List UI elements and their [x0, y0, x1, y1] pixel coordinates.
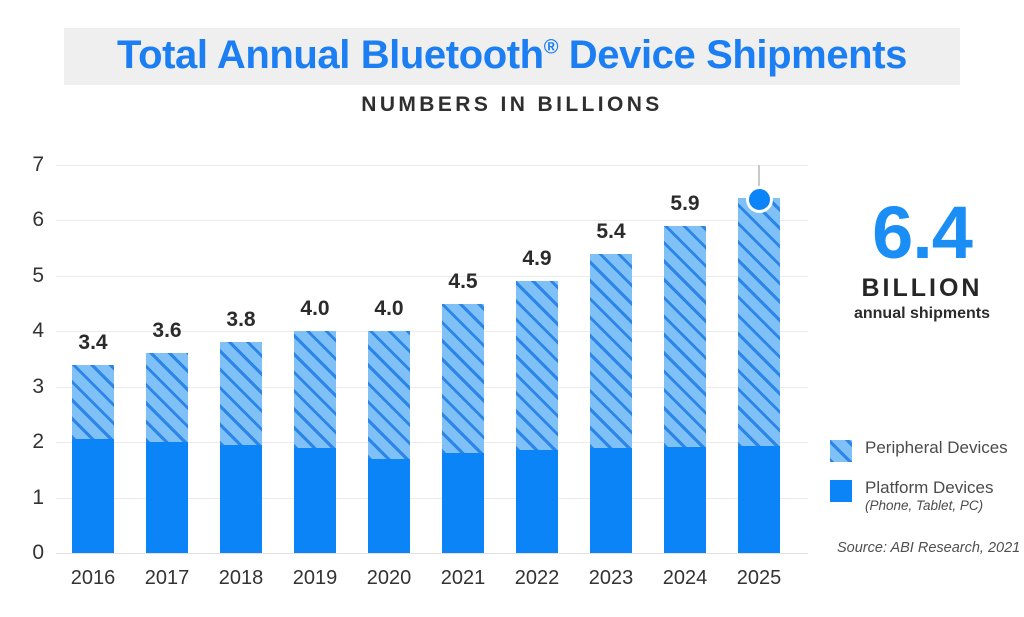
gridline-7 — [56, 165, 808, 166]
bar-value-label-2023: 5.4 — [568, 220, 654, 244]
bar-value-label-2024: 5.9 — [642, 192, 728, 216]
legend-item-peripheral-devices[interactable]: Peripheral Devices — [830, 438, 1024, 462]
source-note: Source: ABI Research, 2021 — [837, 540, 1020, 556]
bar-segment-peripheral-2022[interactable] — [516, 281, 558, 450]
page-title-main: Total Annual Bluetooth — [117, 33, 544, 77]
bar-value-label-2020: 4.0 — [346, 297, 432, 321]
bar-2023[interactable] — [590, 254, 632, 553]
page-title: Total Annual Bluetooth® Device Shipments — [0, 24, 1024, 86]
callout-block: 6.4 BILLION annual shipments — [828, 196, 1016, 323]
page-title-tail: Device Shipments — [558, 33, 907, 77]
y-axis-tick-2: 2 — [18, 430, 44, 454]
registered-trademark-icon: ® — [544, 37, 558, 59]
callout-subtext: annual shipments — [828, 305, 1016, 323]
legend-swatch-solid-icon — [830, 480, 852, 502]
bar-segment-platform-2024[interactable] — [664, 447, 706, 553]
bar-value-label-2021: 4.5 — [420, 270, 506, 294]
bar-segment-peripheral-2025[interactable] — [738, 198, 780, 446]
legend-label-peripheral: Peripheral Devices — [865, 438, 1008, 458]
legend-sublabel-platform: (Phone, Tablet, PC) — [865, 498, 993, 514]
bar-segment-platform-2025[interactable] — [738, 446, 780, 553]
bar-2021[interactable] — [442, 304, 484, 553]
bar-segment-platform-2020[interactable] — [368, 459, 410, 553]
y-axis-tick-1: 1 — [18, 486, 44, 510]
chart-subtitle: NUMBERS IN BILLIONS — [0, 93, 1024, 117]
bar-2024[interactable] — [664, 226, 706, 553]
bar-2018[interactable] — [220, 342, 262, 553]
bar-segment-peripheral-2023[interactable] — [590, 254, 632, 448]
bar-segment-peripheral-2024[interactable] — [664, 226, 706, 447]
y-axis-tick-7: 7 — [18, 153, 44, 177]
bar-segment-platform-2021[interactable] — [442, 453, 484, 553]
y-axis-tick-4: 4 — [18, 319, 44, 343]
gridline-0 — [56, 553, 808, 554]
bar-segment-peripheral-2018[interactable] — [220, 342, 262, 445]
y-axis-tick-6: 6 — [18, 208, 44, 232]
bar-segment-peripheral-2017[interactable] — [146, 353, 188, 442]
legend-item-platform-devices[interactable]: Platform Devices (Phone, Tablet, PC) — [830, 478, 1024, 514]
bar-segment-platform-2016[interactable] — [72, 439, 114, 553]
legend-label-platform: Platform Devices — [865, 478, 993, 498]
bar-segment-peripheral-2016[interactable] — [72, 365, 114, 440]
chart-canvas: Total Annual Bluetooth® Device Shipments… — [0, 0, 1024, 617]
bar-2022[interactable] — [516, 281, 558, 553]
bar-segment-peripheral-2021[interactable] — [442, 304, 484, 454]
plot-area: 012345673.420163.620173.820184.020194.02… — [56, 165, 808, 553]
bar-2019[interactable] — [294, 331, 336, 553]
legend-swatch-hatched-icon — [830, 440, 852, 462]
bar-2017[interactable] — [146, 353, 188, 553]
bar-segment-platform-2023[interactable] — [590, 448, 632, 553]
y-axis-tick-0: 0 — [18, 541, 44, 565]
bar-segment-platform-2022[interactable] — [516, 450, 558, 553]
bar-segment-peripheral-2020[interactable] — [368, 331, 410, 458]
callout-number: 6.4 — [828, 196, 1016, 270]
callout-unit: BILLION — [828, 274, 1016, 303]
y-axis-tick-5: 5 — [18, 264, 44, 288]
bar-2025[interactable] — [738, 198, 780, 553]
bar-segment-platform-2019[interactable] — [294, 448, 336, 553]
bar-segment-platform-2017[interactable] — [146, 442, 188, 553]
x-axis-tick-2025: 2025 — [716, 567, 802, 590]
highlight-dot-marker[interactable] — [746, 186, 773, 213]
bar-2016[interactable] — [72, 365, 114, 553]
gridline-6 — [56, 220, 808, 221]
chart-legend: Peripheral Devices Platform Devices (Pho… — [830, 438, 1024, 530]
bar-2020[interactable] — [368, 331, 410, 553]
bar-segment-peripheral-2019[interactable] — [294, 331, 336, 447]
y-axis-tick-3: 3 — [18, 375, 44, 399]
bar-segment-platform-2018[interactable] — [220, 445, 262, 553]
bar-value-label-2022: 4.9 — [494, 247, 580, 271]
